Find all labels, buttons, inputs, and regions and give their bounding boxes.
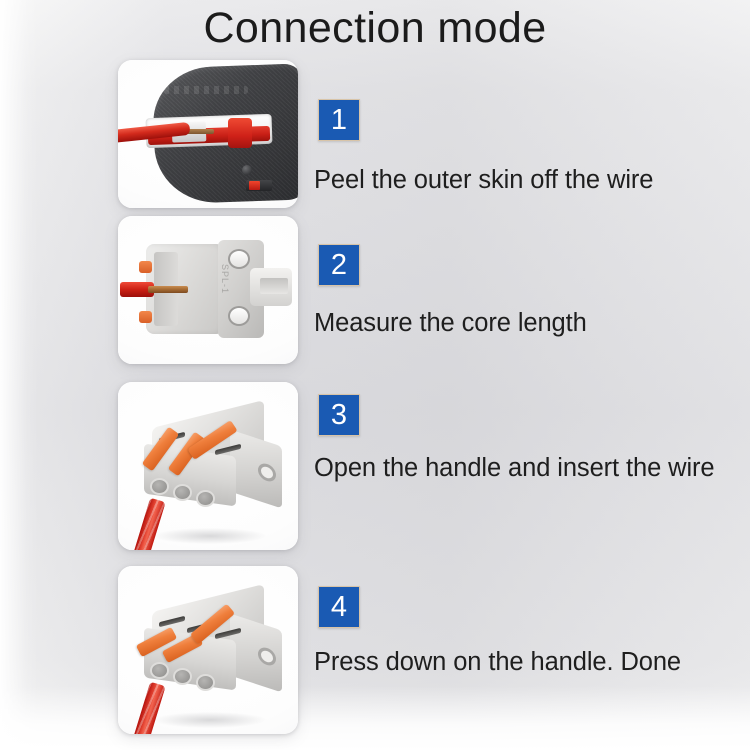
connector-port bbox=[196, 674, 215, 691]
step-caption: Press down on the handle. Done bbox=[314, 646, 681, 678]
copper-core bbox=[148, 286, 188, 293]
step-number-badge: 2 bbox=[318, 244, 360, 286]
connector-hole-bottom bbox=[228, 306, 250, 326]
step-item: SPL-1 2 Measure the core length bbox=[0, 216, 750, 364]
steps-list: 1 Peel the outer skin off the wire bbox=[0, 0, 750, 750]
tool-screw bbox=[242, 165, 252, 175]
step-item: 1 Peel the outer skin off the wire bbox=[0, 60, 750, 208]
step-4-photo-card bbox=[118, 566, 298, 734]
step-item: 3 Open the handle and insert the wire bbox=[0, 382, 750, 550]
connector-port bbox=[150, 478, 169, 495]
wire-stripes bbox=[129, 682, 166, 734]
connector-lever-bottom bbox=[139, 311, 152, 323]
step-2-text: 2 Measure the core length bbox=[312, 216, 750, 364]
step-caption: Peel the outer skin off the wire bbox=[314, 164, 653, 196]
red-wire bbox=[129, 498, 166, 550]
step-caption: Measure the core length bbox=[314, 307, 587, 339]
step-number-badge: 3 bbox=[318, 394, 360, 436]
step-3-photo bbox=[118, 382, 298, 550]
step-number-badge: 4 bbox=[318, 586, 360, 628]
step-3-photo-card bbox=[118, 382, 298, 550]
step-1-photo bbox=[118, 60, 298, 208]
connector-shadow bbox=[154, 712, 266, 728]
connection-mode-infographic: Connection mode bbox=[0, 0, 750, 750]
step-4-photo bbox=[118, 566, 298, 734]
connector-port bbox=[196, 490, 215, 507]
connector-marking: SPL-1 bbox=[220, 264, 230, 294]
step-2-photo-card: SPL-1 bbox=[118, 216, 298, 364]
step-3-text: 3 Open the handle and insert the wire bbox=[312, 382, 750, 550]
page-title: Connection mode bbox=[0, 2, 750, 54]
step-1-photo-card bbox=[118, 60, 298, 208]
step-number-badge: 1 bbox=[318, 99, 360, 141]
step-4-text: 4 Press down on the handle. Done bbox=[312, 566, 750, 734]
red-wire bbox=[129, 682, 166, 734]
lever-connector-open-icon bbox=[132, 404, 286, 526]
tool-switch-indicator bbox=[249, 181, 260, 190]
connector-port bbox=[173, 668, 192, 685]
connector-tab-slot bbox=[260, 278, 288, 294]
connector-hole-top bbox=[228, 249, 250, 269]
lever-connector-closed-icon bbox=[132, 588, 286, 710]
wire-stripes bbox=[129, 498, 166, 550]
connector-shadow bbox=[154, 528, 266, 544]
tool-embossed-text bbox=[164, 86, 248, 94]
step-caption: Open the handle and insert the wire bbox=[314, 452, 715, 484]
step-2-photo: SPL-1 bbox=[118, 216, 298, 364]
connector-port bbox=[150, 662, 169, 679]
connector-port bbox=[173, 484, 192, 501]
step-1-text: 1 Peel the outer skin off the wire bbox=[312, 60, 750, 208]
connector-lever-top bbox=[139, 261, 152, 273]
tool-red-block bbox=[228, 118, 252, 148]
step-item: 4 Press down on the handle. Done bbox=[0, 566, 750, 734]
